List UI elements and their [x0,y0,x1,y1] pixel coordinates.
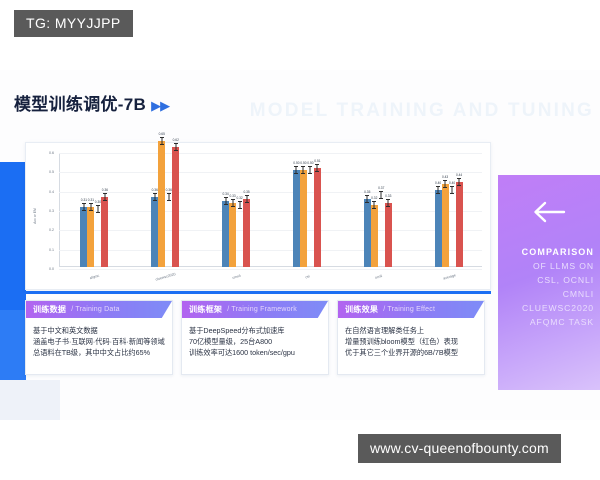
chart-errorbar-cap [160,144,164,145]
chart-errorbar-cap [167,193,171,194]
chart-bar-value-label: 0.62 [173,138,179,142]
site-watermark: www.cv-queenofbounty.com [358,434,561,463]
chart-errorbar [303,166,304,173]
chart-bar-value-label: 0.36 [166,188,172,192]
chart-errorbar [388,199,389,206]
chart-errorbar-cap [224,204,228,205]
chart-errorbar-cap [315,164,319,165]
chart-bar: 0.44 [456,182,463,267]
chart-bar-value-label: 0.50 [293,161,299,165]
chart-bar-value-label: 0.31 [81,198,87,202]
chart-errorbar [374,201,375,208]
chart-errorbar-cap [450,186,454,187]
info-card-body: 基于DeepSpeed分布式加速库 70亿模型量级，25台A800 训练效率可达… [182,318,328,358]
info-line: 70亿模型量级，25台A800 [189,336,321,347]
chart-errorbar [239,201,240,208]
side-panel-title: COMPARISON [498,247,594,257]
chart-gridline [59,230,482,231]
chart-errorbar-cap [160,137,164,138]
chart-gridline [59,153,482,154]
chart-errorbar-cap [372,201,376,202]
chart-bar: 0.65 [158,141,165,267]
chart-errorbar-cap [174,150,178,151]
info-card-body: 在自然语言理解类任务上 增量预训练bloom模型（红色）表现 优于其它三个业界开… [338,318,484,358]
chart-bar-value-label: 0.33 [229,194,235,198]
chart-errorbar-cap [301,173,305,174]
chart-errorbar-cap [82,203,86,204]
chart-bar: 0.62 [172,147,179,267]
info-line: 优于其它三个业界开源的6B/7B模型 [345,347,477,358]
info-line: 基于中文和英文数据 [33,325,165,336]
chart-errorbar [90,203,91,210]
chart-errorbar-cap [379,191,383,192]
arrow-left-icon[interactable] [532,201,566,228]
info-card-header: 训练数据 / Training Data [26,301,172,318]
info-line: 基于DeepSpeed分布式加速库 [189,325,321,336]
chart-errorbar-cap [294,166,298,167]
chart-errorbar [452,186,453,193]
chart-errorbar-cap [82,210,86,211]
info-card-header: 训练效果 / Training Effect [338,301,484,318]
chart-bar: 0.36 [101,197,108,267]
chart-errorbar-cap [167,200,171,201]
chart-bar: 0.31 [80,207,87,267]
info-card-training-framework: 训练框架 / Training Framework 基于DeepSpeed分布式… [181,300,329,375]
info-card-training-effect: 训练效果 / Training Effect 在自然语言理解类任务上 增量预训练… [337,300,485,375]
chart-errorbar-cap [174,143,178,144]
chart-gridline [59,172,482,173]
chart-bar-value-label: 0.43 [442,175,448,179]
accent-bar-secondary [0,310,26,380]
chart-errorbar-cap [245,202,249,203]
chart-y-tick-label: 0.0 [40,267,54,271]
chart-bar: 0.36 [165,197,172,267]
info-line: 在自然语言理解类任务上 [345,325,477,336]
info-line: 涵盖电子书·互联网·代码·百科·新闻等领域 [33,336,165,347]
chart-errorbar [317,164,318,171]
chart-x-tick-label: cluewsc2020 [144,269,187,285]
chart-bar-value-label: 0.35 [243,190,249,194]
chart-bar-value-label: 0.65 [159,132,165,136]
chart-y-tick-label: 0.5 [40,170,54,174]
chart-bar: 0.35 [364,199,371,267]
chart-bar: 0.40 [449,190,456,267]
info-card-title-en: / Training Effect [383,306,435,313]
chart-y-tick-label: 0.2 [40,228,54,232]
chart-errorbar-cap [153,193,157,194]
side-panel-line: OF LLMS ON [498,261,594,271]
info-line: 增量预训练bloom模型（红色）表现 [345,336,477,347]
chart-bar: 0.32 [371,205,378,267]
chart-bar: 0.36 [151,197,158,267]
chart-bar-value-label: 0.40 [435,181,441,185]
chart-x-axis-line [59,266,482,267]
chart-x-tick-label: afqmc [73,269,116,285]
chart-bar-value-label: 0.36 [102,188,108,192]
chart-errorbar-cap [379,198,383,199]
chart-y-axis-title: Acc or EM [33,208,37,224]
chart-x-tick-label: average [427,269,470,285]
info-card-header: 训练框架 / Training Framework [182,301,328,318]
chart-underline [25,291,491,294]
chart-bar: 0.32 [236,205,243,267]
chart-y-tick-label: 0.3 [40,209,54,213]
chart-errorbar-cap [238,208,242,209]
chart-bar-value-label: 0.36 [152,188,158,192]
chart-bar: 0.50 [307,170,314,267]
accent-bar-primary [0,162,26,310]
chart-errorbar-cap [245,195,249,196]
accent-strip [0,380,60,420]
side-panel-line: AFQMC TASK [498,317,594,327]
chart-bar-value-label: 0.32 [371,196,377,200]
chart-errorbar-cap [89,203,93,204]
chart-errorbar [232,199,233,206]
telegram-watermark: TG: MYYJJPP [14,10,133,37]
chart-gridline [59,211,482,212]
chart-errorbar [104,193,105,200]
chart-bar-value-label: 0.50 [307,161,313,165]
chart-errorbar-cap [315,171,319,172]
chart-bar-value-label: 0.44 [456,173,462,177]
chart-bar-value-label: 0.34 [222,192,228,196]
chart-errorbar-cap [103,193,107,194]
chart-errorbar [154,193,155,200]
chart-x-tick-label: csl [286,269,329,285]
chart-bar-value-label: 0.32 [236,196,242,200]
chart-errorbar-cap [224,197,228,198]
info-card-body: 基于中文和英文数据 涵盖电子书·互联网·代码·百科·新闻等领域 总语料在TB级，… [26,318,172,358]
chart-errorbar-cap [450,193,454,194]
comparison-side-panel: COMPARISON OF LLMS ON CSL, OCNLI CMNLI C… [498,175,600,390]
chart-errorbar-cap [96,205,100,206]
chart-errorbar-cap [231,199,235,200]
chart-errorbar [168,193,169,200]
chart-errorbar [97,205,98,212]
chart-bar: 0.30 [94,209,101,267]
info-card-title-cn: 训练框架 [189,304,222,315]
chart-bar-value-label: 0.51 [314,159,320,163]
chart-bar: 0.34 [222,201,229,267]
chart-bar-value-label: 0.37 [378,186,384,190]
chart-bar-value-label: 0.31 [88,198,94,202]
chart-bar-value-label: 0.30 [95,200,101,204]
chart-errorbar-cap [301,166,305,167]
info-line: 训练效率可达1600 token/sec/gpu [189,347,321,358]
presentation-slide: MODEL TRAINING AND TUNING 模型训练调优-7B▶▶ Ac… [0,70,600,420]
benchmark-bar-chart: Acc or EM 0.00.10.20.30.40.50.60.310.310… [25,142,491,290]
chart-errorbar [381,191,382,198]
chart-bar-value-label: 0.35 [364,190,370,194]
chart-errorbar [246,195,247,202]
chart-errorbar-cap [153,200,157,201]
chart-bar: 0.37 [378,195,385,267]
info-card-title-cn: 训练数据 [33,304,66,315]
chart-errorbar-cap [436,186,440,187]
background-wordart: MODEL TRAINING AND TUNING [250,100,594,122]
chart-errorbar-cap [443,187,447,188]
chart-errorbar [83,203,84,210]
chart-x-tick-label: ocnli [357,269,400,285]
chart-y-tick-label: 0.1 [40,248,54,252]
chart-errorbar-cap [231,206,235,207]
info-line: 总语料在TB级，其中中文占比约65% [33,347,165,358]
chart-errorbar [445,180,446,187]
chart-bar-value-label: 0.33 [385,194,391,198]
chart-errorbar-cap [457,178,461,179]
slide-title-text: 模型训练调优-7B [14,95,146,114]
chart-bar: 0.31 [87,207,94,267]
chart-bar: 0.43 [442,184,449,267]
chart-errorbar-cap [372,208,376,209]
chart-errorbar-cap [238,201,242,202]
chart-y-tick-label: 0.4 [40,190,54,194]
chart-errorbar-cap [89,210,93,211]
chart-bar-value-label: 0.50 [300,161,306,165]
chart-gridline [59,192,482,193]
chart-errorbar-cap [365,202,369,203]
slide-title: 模型训练调优-7B▶▶ [14,90,169,115]
chart-bar: 0.35 [243,199,250,267]
info-card-training-data: 训练数据 / Training Data 基于中文和英文数据 涵盖电子书·互联网… [25,300,173,375]
side-panel-line: CLUEWSC2020 [498,303,594,313]
screenshot-root: TG: MYYJJPP MODEL TRAINING AND TUNING 模型… [0,0,600,480]
chart-errorbar [225,197,226,204]
chart-errorbar [175,143,176,150]
chart-errorbar-cap [308,166,312,167]
chart-bar: 0.33 [229,203,236,267]
chart-errorbar [459,178,460,185]
chart-errorbar-cap [386,199,390,200]
chart-errorbar-cap [443,180,447,181]
chart-errorbar [438,186,439,193]
chart-x-tick-label: cmnli [215,269,258,285]
chart-errorbar [161,137,162,144]
info-card-title-cn: 训练效果 [345,304,378,315]
chart-errorbar-cap [308,173,312,174]
chart-errorbar-cap [294,173,298,174]
info-card-title-en: / Training Data [71,306,120,313]
chart-errorbar-cap [103,200,107,201]
chart-errorbar-cap [96,212,100,213]
chart-gridline [59,250,482,251]
chart-errorbar [310,166,311,173]
chart-errorbar-cap [436,193,440,194]
chart-errorbar-cap [365,195,369,196]
info-card-title-en: / Training Framework [227,306,297,313]
chart-gridline [59,269,482,270]
chart-errorbar-cap [386,206,390,207]
chart-errorbar [367,195,368,202]
chart-y-tick-label: 0.6 [40,151,54,155]
chart-bar: 0.50 [293,170,300,267]
chart-bar-value-label: 0.40 [449,181,455,185]
chart-bar: 0.50 [300,170,307,267]
chart-bar: 0.33 [385,203,392,267]
chart-bar: 0.51 [314,168,321,267]
side-panel-line: CSL, OCNLI [498,275,594,285]
chart-bar: 0.40 [435,190,442,267]
side-panel-line: CMNLI [498,289,594,299]
chart-errorbar-cap [457,185,461,186]
double-arrow-icon: ▶▶ [151,98,169,113]
chart-plot-area: Acc or EM 0.00.10.20.30.40.50.60.310.310… [26,143,490,289]
chart-errorbar [296,166,297,173]
